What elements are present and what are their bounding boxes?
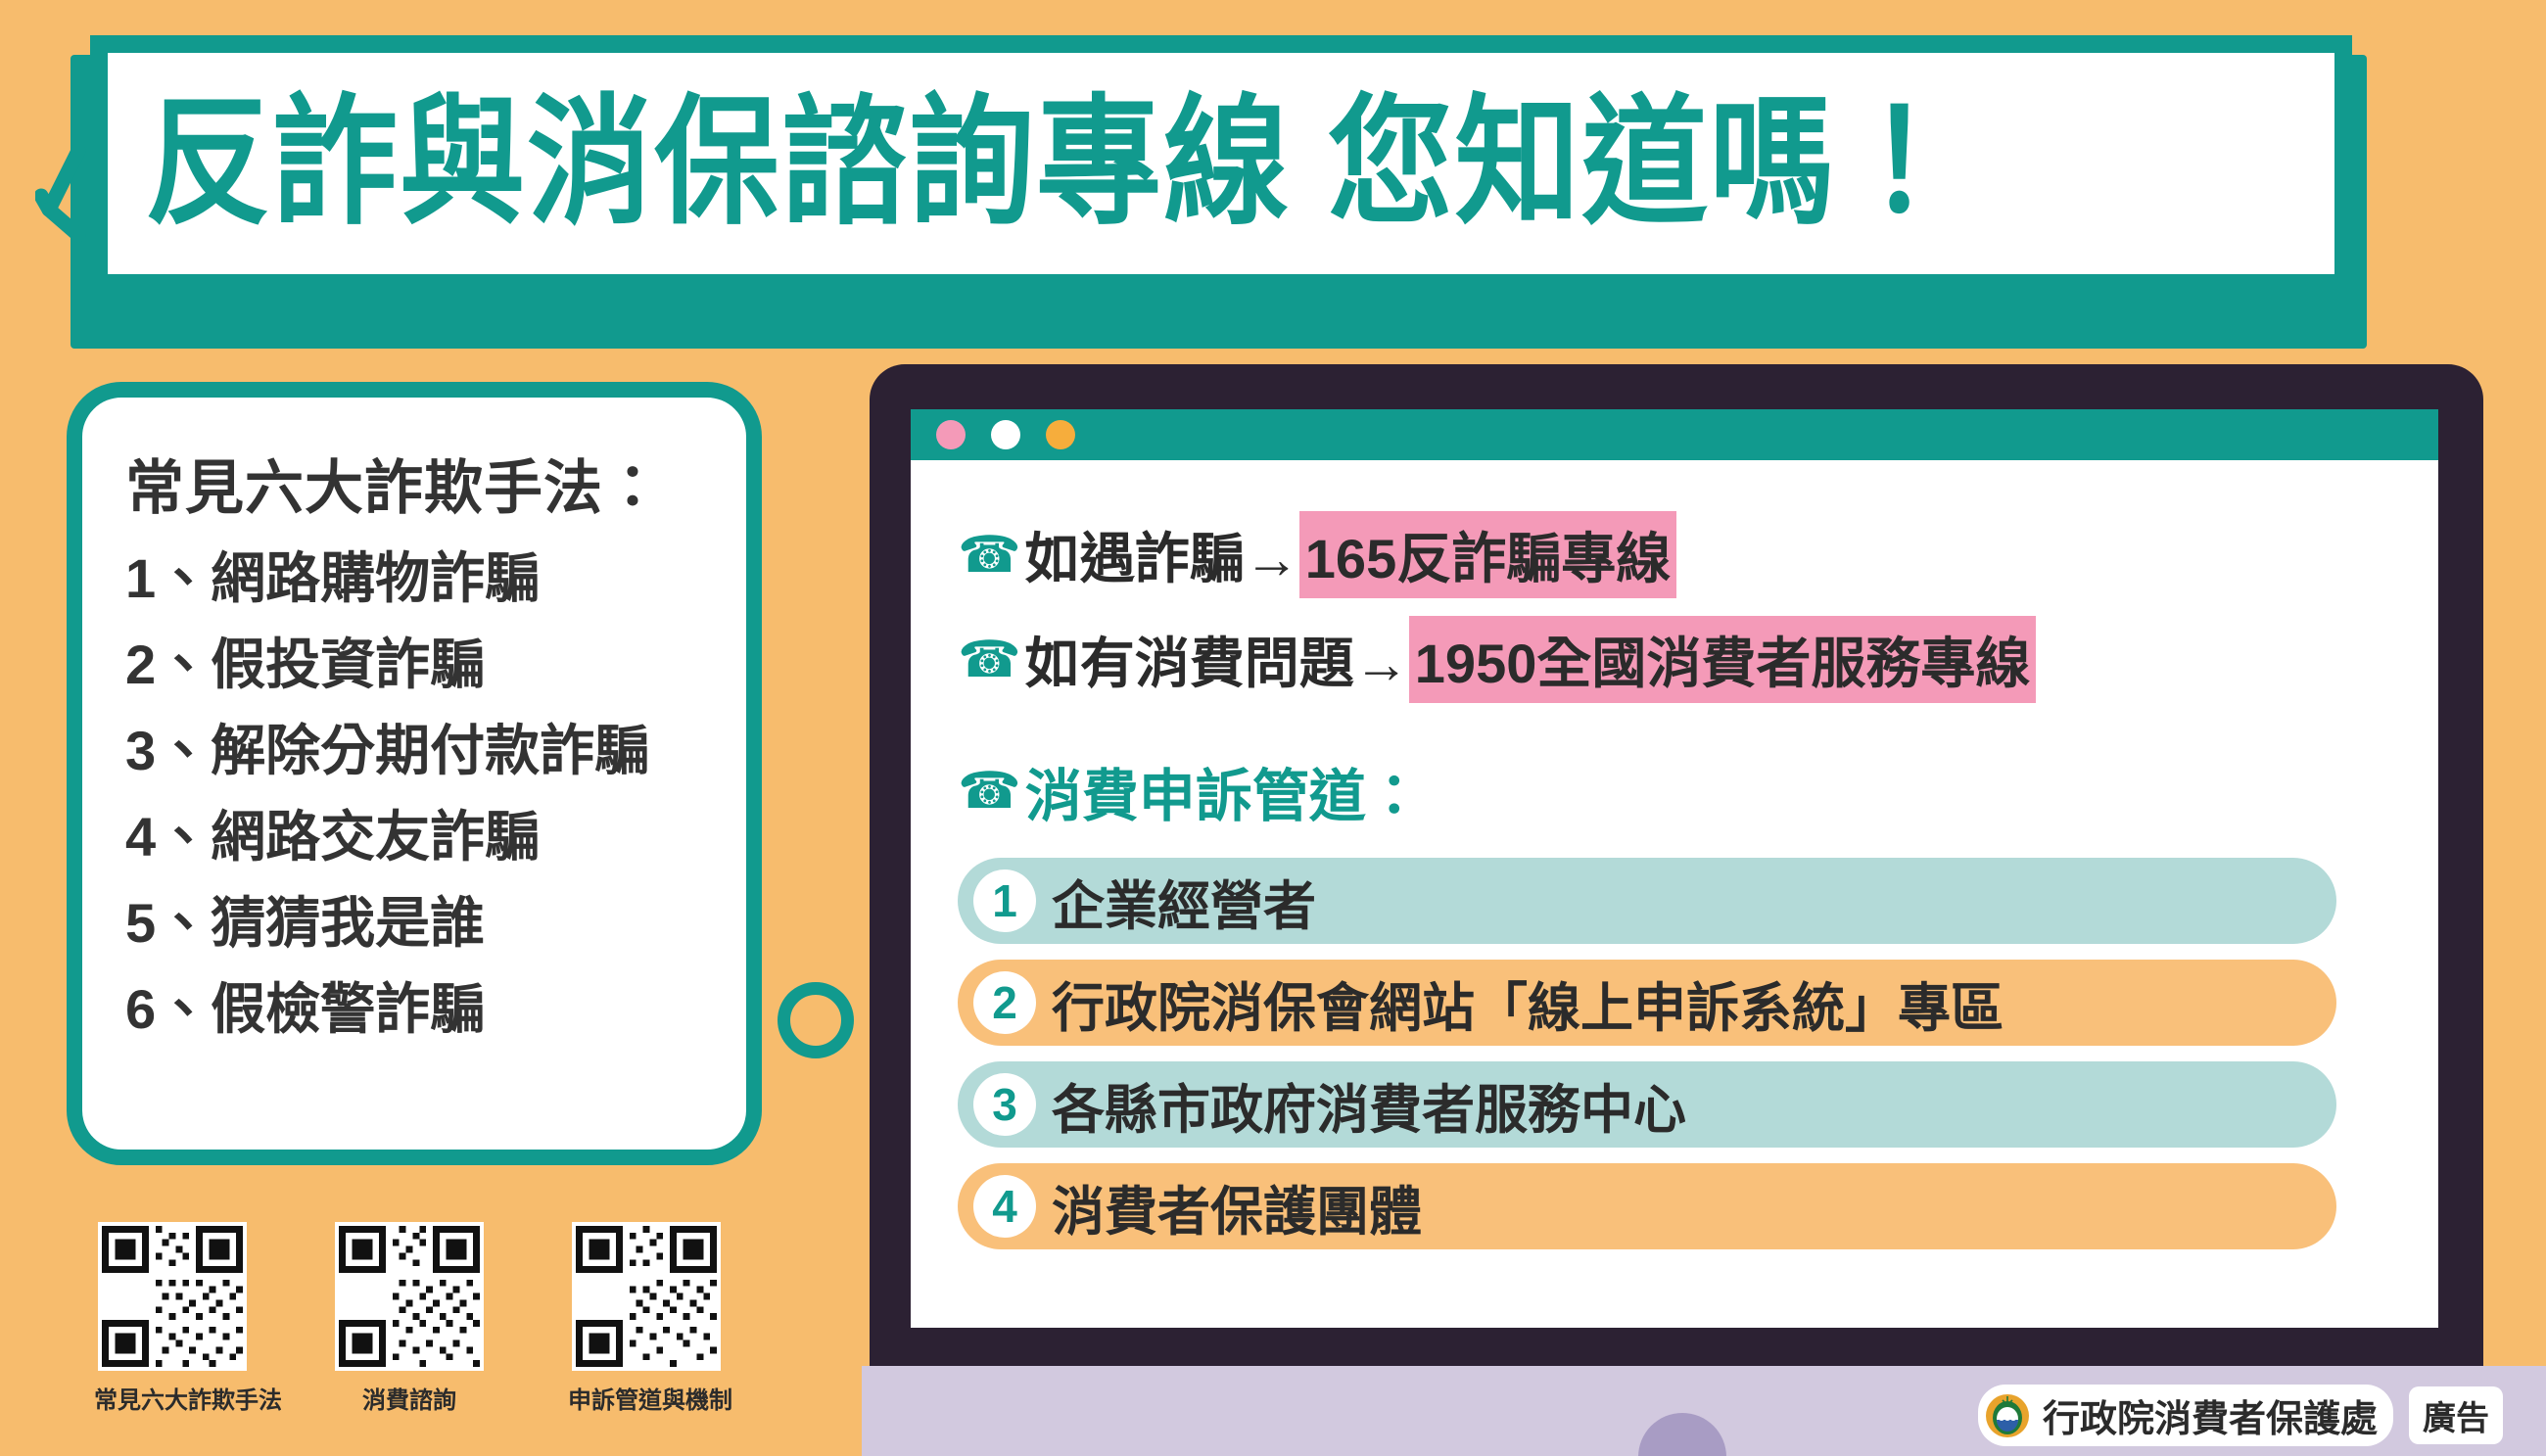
browser-window: ☎ 如遇詐騙→ 165反詐騙專線 ☎ 如有消費問題→ 1950全國消費者服務專線…: [911, 409, 2438, 1328]
list-item: 5、猜猜我是誰: [125, 896, 707, 951]
hotline-row: ☎ 如有消費問題→ 1950全國消費者服務專線: [958, 616, 2405, 703]
list-item: 3、解除分期付款詐騙: [125, 724, 707, 778]
hotline-row: ☎ 如遇詐騙→ 165反詐騙專線: [958, 511, 2405, 598]
window-content: ☎ 如遇詐騙→ 165反詐騙專線 ☎ 如有消費問題→ 1950全國消費者服務專線…: [911, 460, 2438, 1249]
complaint-channels-label: 消費申訴管道：: [1025, 750, 1423, 832]
qr-code-image: [572, 1222, 721, 1371]
channel-number-badge: 4: [973, 1175, 1036, 1238]
list-item: 4、網路交友詐騙: [125, 810, 707, 865]
channel-number-badge: 2: [973, 971, 1036, 1034]
title-banner: 反詐與消保諮詢專線 您知道嗎！: [90, 35, 2352, 292]
channel-item-4[interactable]: 4 消費者保護團體: [958, 1163, 2336, 1249]
common-scams-card: 常見六大詐欺手法： 1、網路購物詐騙 2、假投資詐騙 3、解除分期付款詐騙 4、…: [67, 382, 762, 1165]
channel-item-1[interactable]: 1 企業經營者: [958, 858, 2336, 944]
ad-label: 廣告: [2409, 1386, 2503, 1444]
telephone-icon: ☎: [958, 634, 1021, 685]
poster-canvas: 反詐與消保諮詢專線 您知道嗎！ 常見六大詐欺手法： 1、網路購物詐騙 2、假投資…: [0, 0, 2546, 1456]
list-item: 1、網路購物詐騙: [125, 551, 707, 606]
common-scams-heading: 常見六大詐欺手法：: [125, 441, 707, 526]
channel-label: 企業經營者: [1052, 863, 1316, 940]
complaint-channels-heading: ☎ 消費申訴管道：: [958, 750, 2405, 832]
channel-item-3[interactable]: 3 各縣市政府消費者服務中心: [958, 1061, 2336, 1148]
channel-item-2[interactable]: 2 行政院消保會網站「線上申訴系統」專區: [958, 960, 2336, 1046]
footer: 行政院消費者保護處 廣告: [1978, 1385, 2503, 1446]
qr-code-row: 常見六大詐欺手法: [94, 1222, 725, 1415]
channel-number-badge: 1: [973, 869, 1036, 932]
qr-caption: 消費諮詢: [331, 1381, 488, 1415]
hotline-number: 165反詐騙專線: [1299, 511, 1676, 598]
hotline-lead: 如有消費問題→: [1025, 620, 1409, 699]
connector-ring-large: [778, 982, 854, 1058]
list-item: 2、假投資詐騙: [125, 637, 707, 692]
agency-name: 行政院消費者保護處: [2043, 1388, 2378, 1442]
window-dot-minimize[interactable]: [991, 420, 1020, 449]
telephone-icon: ☎: [958, 766, 1021, 817]
telephone-icon: ☎: [958, 530, 1021, 581]
window-dot-maximize[interactable]: [1046, 420, 1075, 449]
qr-caption: 常見六大詐欺手法: [94, 1381, 251, 1415]
hotline-number: 1950全國消費者服務專線: [1409, 616, 2037, 703]
agency-badge: 行政院消費者保護處: [1978, 1385, 2393, 1446]
channel-label: 各縣市政府消費者服務中心: [1052, 1066, 1686, 1144]
channel-label: 消費者保護團體: [1052, 1168, 1422, 1245]
qr-caption: 申訴管道與機制: [568, 1381, 725, 1415]
qr-code-image: [98, 1222, 247, 1371]
page-title: 反詐與消保諮詢專線 您知道嗎！: [145, 93, 1964, 233]
qr-code-image: [335, 1222, 484, 1371]
qr-code-six-scams[interactable]: 常見六大詐欺手法: [94, 1222, 251, 1415]
list-item: 6、假檢警詐騙: [125, 982, 707, 1037]
hotline-lead: 如遇詐騙→: [1025, 515, 1299, 594]
channel-label: 行政院消保會網站「線上申訴系統」專區: [1052, 964, 2004, 1042]
qr-code-consumer-consult[interactable]: 消費諮詢: [331, 1222, 488, 1415]
window-dot-close[interactable]: [936, 420, 966, 449]
qr-code-complaint-channels[interactable]: 申訴管道與機制: [568, 1222, 725, 1415]
channel-number-badge: 3: [973, 1073, 1036, 1136]
window-titlebar: [911, 409, 2438, 460]
executive-yuan-cpc-logo: [1984, 1392, 2031, 1439]
